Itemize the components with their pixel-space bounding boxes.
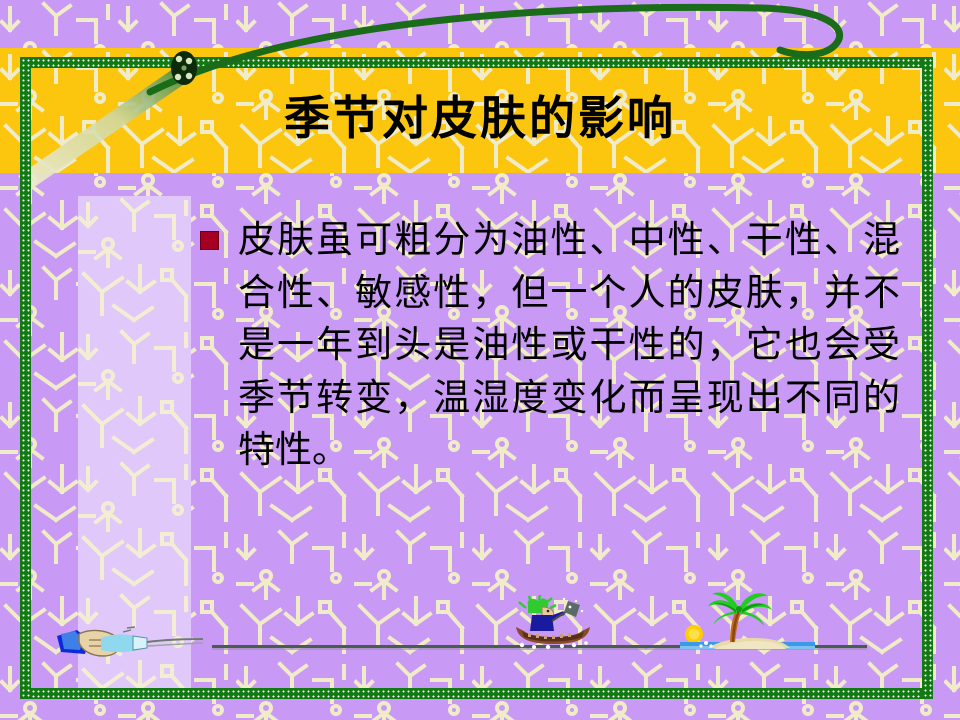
slide-title: 季节对皮肤的影响 [0, 96, 960, 142]
water-horizon-line [212, 645, 867, 648]
frame-bottom-edge [20, 688, 933, 699]
body-content-block: 皮肤虽可粗分为油性、中性、干性、混合性、敏感性，但一个人的皮肤，并不是一年到头是… [200, 215, 900, 478]
frame-top-edge [20, 57, 933, 68]
presentation-slide: 季节对皮肤的影响 皮肤虽可粗分为油性、中性、干性、混合性、敏感性，但一个人的皮肤… [0, 0, 960, 720]
left-panel-pattern [78, 196, 191, 700]
horizon-line-shadow [212, 648, 867, 650]
left-accent-panel [78, 196, 191, 700]
frame-right-edge [922, 57, 933, 699]
square-bullet-icon [200, 231, 219, 250]
frame-left-edge [20, 57, 31, 699]
person-paddling-canoe-icon [508, 595, 598, 650]
bullet-text: 皮肤虽可粗分为油性、中性、干性、混合性、敏感性，但一个人的皮肤，并不是一年到头是… [238, 215, 900, 478]
